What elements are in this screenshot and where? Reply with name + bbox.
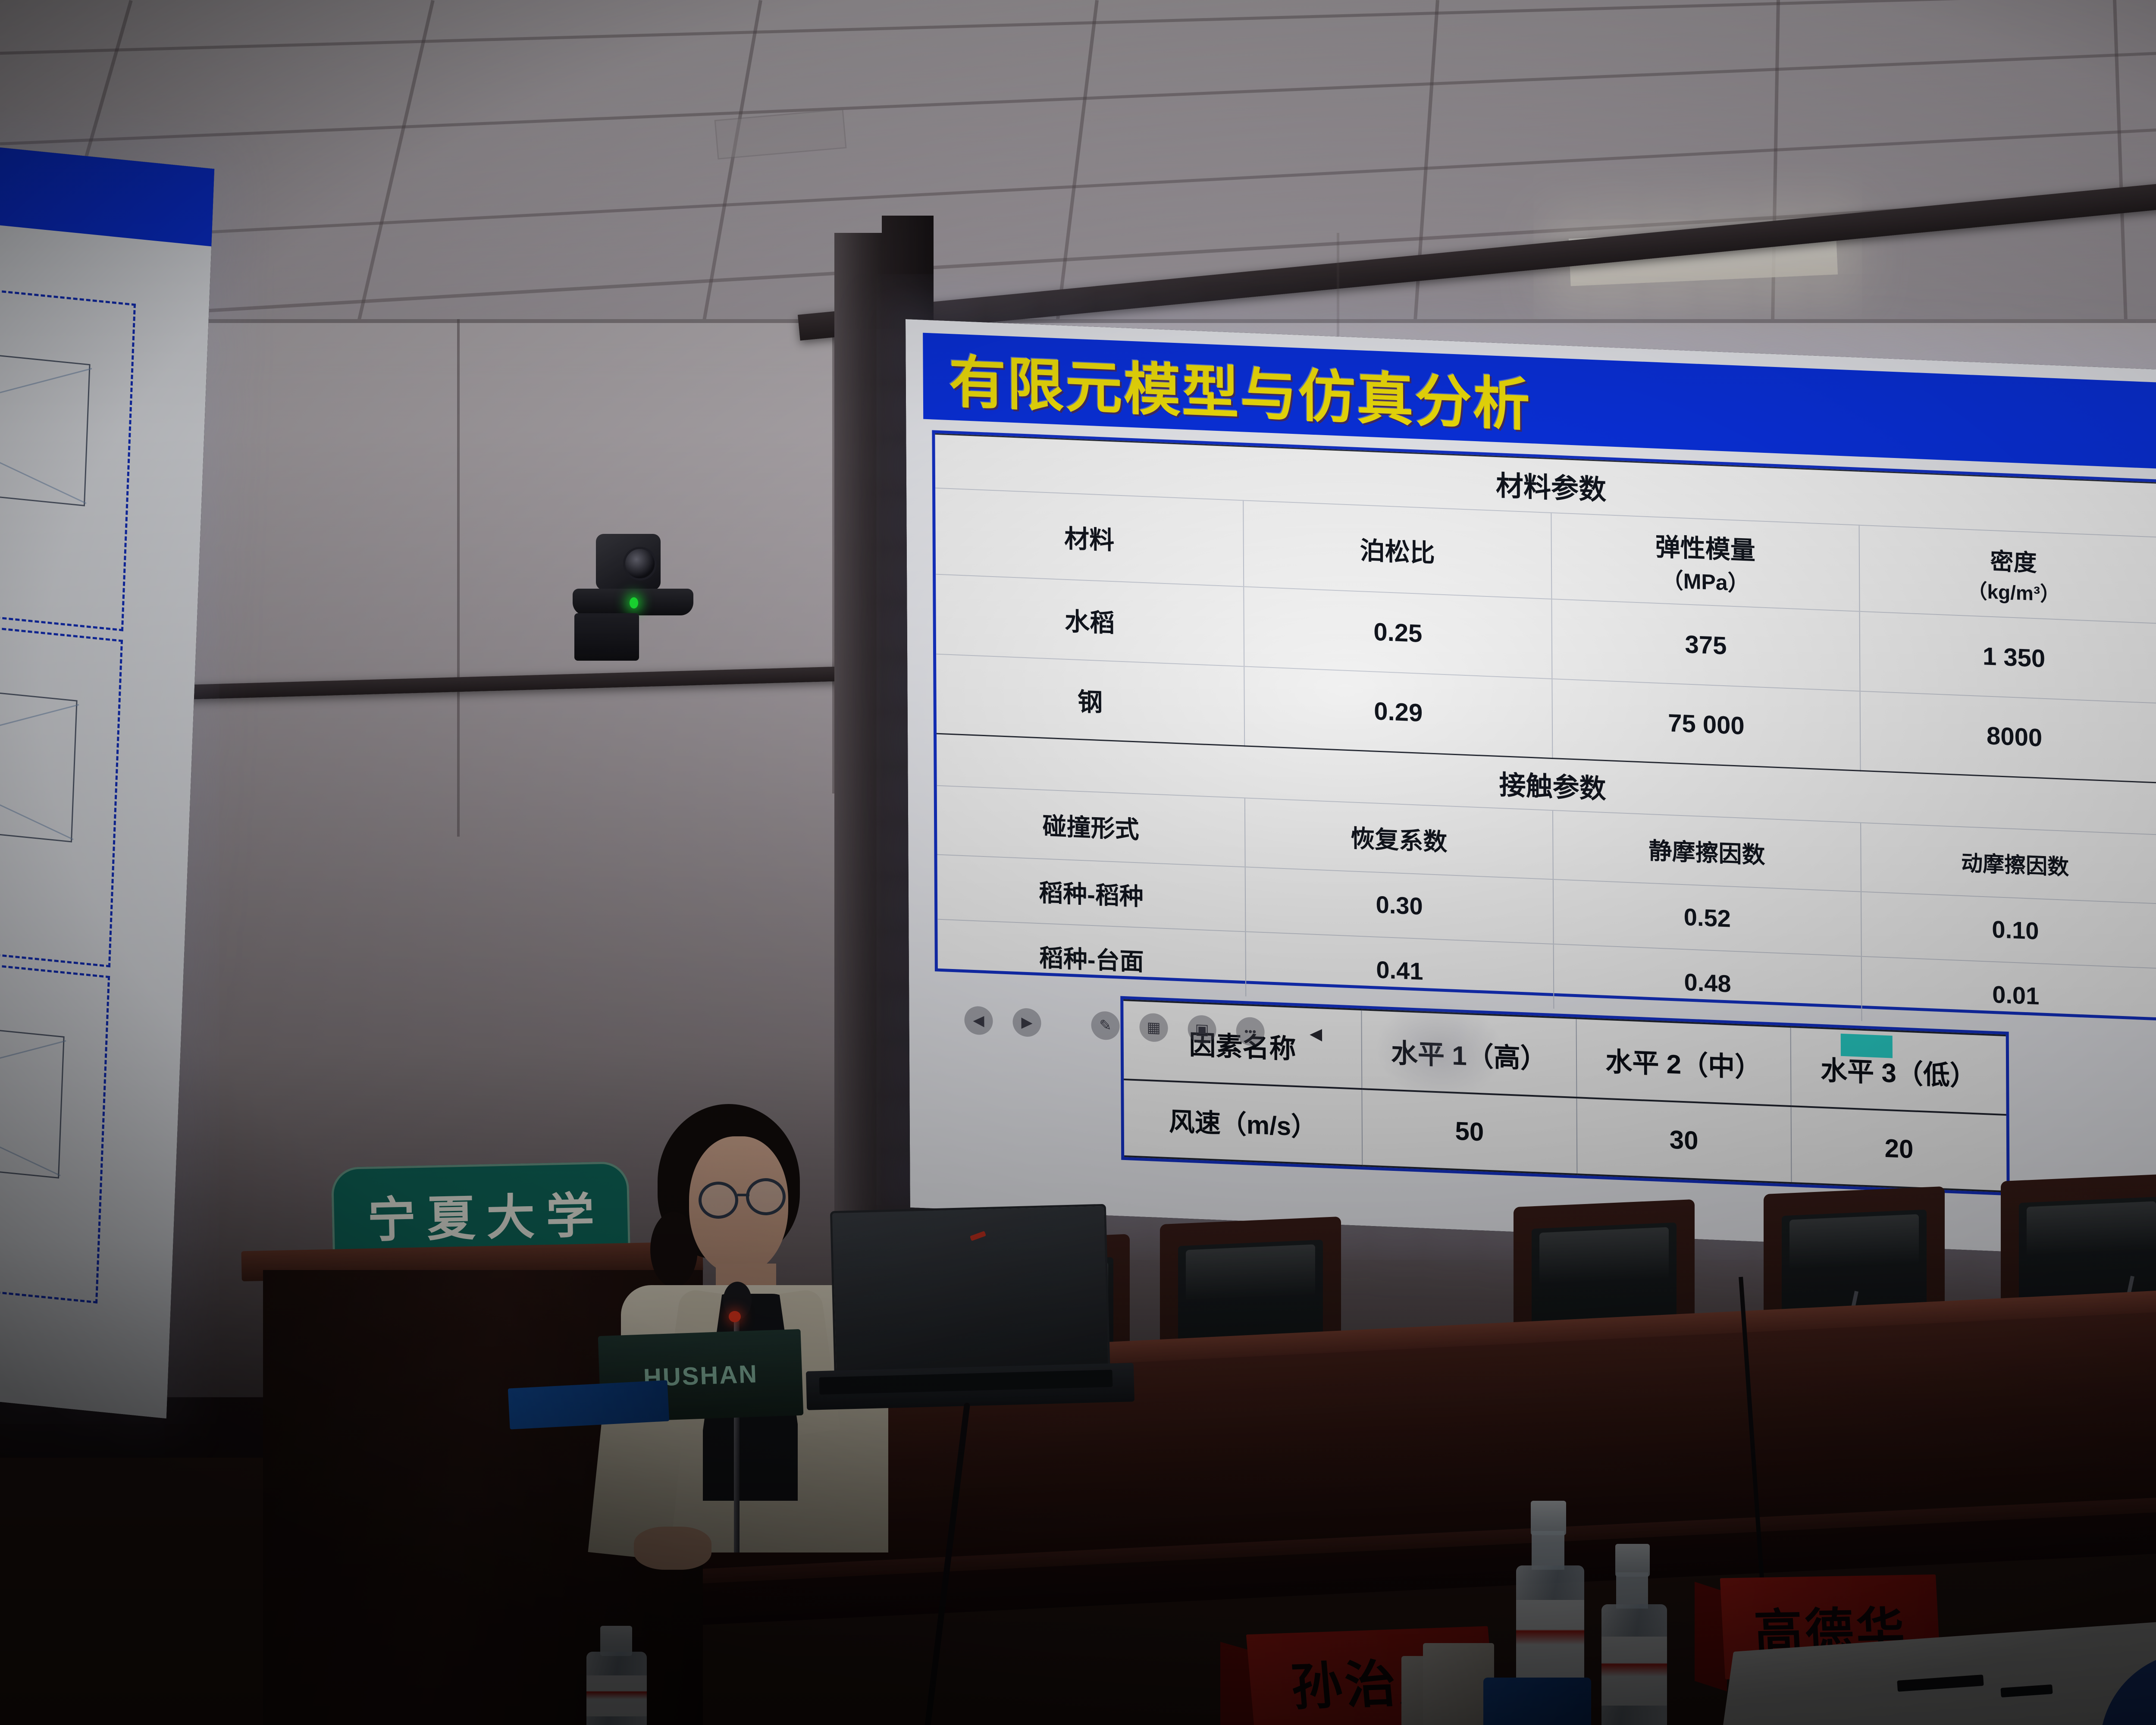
cell-modulus: 75 000 [1552, 679, 1860, 771]
col-head-restitution: 恢复系数 [1245, 798, 1553, 879]
ptz-camera [565, 513, 746, 673]
zoom-tool-button[interactable]: ▣ [1188, 1015, 1216, 1044]
bottle-cap [1531, 1501, 1566, 1535]
cell-static-friction: 0.48 [1554, 944, 1862, 1021]
cell-material: 钢 [936, 654, 1244, 746]
podium-sign-text: 宁夏大学 [355, 1176, 606, 1251]
bottle-label [1601, 1637, 1667, 1706]
conference-room-photo: 耦合仿真分析 有限元模型与仿真分析 [0, 0, 2156, 1725]
bottle-label [586, 1675, 647, 1716]
cell-poisson: 0.25 [1244, 586, 1552, 679]
cell-level-2: 30 [1576, 1098, 1791, 1183]
col-head-dynamic-friction: 动摩擦因数 [1861, 822, 2156, 904]
cell-collision-type: 稻种-台面 [937, 919, 1246, 996]
ceiling [0, 0, 2156, 336]
eyeglasses-bridge [737, 1194, 749, 1196]
camera-status-led [630, 597, 638, 608]
cell-factor-name: 风速（m/s） [1124, 1079, 1362, 1166]
blue-notebook [508, 1380, 669, 1429]
cursor-icon: ◄ [1306, 1022, 1326, 1046]
col-head-modulus: 弹性模量 （MPa） [1551, 513, 1859, 612]
cell-restitution: 0.41 [1245, 931, 1554, 1009]
main-display-screen: 有限元模型与仿真分析 材料参数 材料 泊松比 弹性模量 （MPa） [906, 319, 2156, 1275]
cell-material: 水稻 [936, 574, 1244, 666]
cell-density: 8000 [1860, 691, 2156, 783]
ceiling-tile-grid [0, 0, 2156, 336]
col-head-level-2: 水平 2（中） [1576, 1018, 1791, 1106]
microphone-indicator-led [729, 1311, 741, 1322]
camera-lens-icon [623, 547, 657, 580]
eyeglasses-right-lens [746, 1178, 786, 1215]
pen-tool-button[interactable]: ✎ [1091, 1011, 1119, 1041]
magnify-icon: ▣ [1195, 1021, 1209, 1038]
water-bottle [578, 1626, 655, 1725]
laptop-screen [830, 1204, 1110, 1384]
cell-poisson: 0.29 [1244, 666, 1552, 759]
bottle-label [1516, 1600, 1584, 1678]
camera-wall-arm [574, 613, 639, 661]
cell-static-friction: 0.52 [1553, 879, 1861, 957]
cell-level-3: 20 [1791, 1106, 2006, 1192]
previous-slide-button[interactable]: ◀ [964, 1006, 993, 1035]
blue-object [1483, 1678, 1591, 1725]
cell-collision-type: 稻种-稻种 [937, 854, 1245, 931]
water-bottle [1591, 1544, 1677, 1725]
prev-arrow-icon: ◀ [973, 1012, 984, 1029]
next-arrow-icon: ▶ [1021, 1013, 1032, 1031]
wall-column [834, 233, 882, 1268]
presentation-slide: 有限元模型与仿真分析 材料参数 材料 泊松比 弹性模量 （MPa） [906, 319, 2156, 1275]
all-slides-button[interactable]: ▦ [1139, 1013, 1168, 1042]
col-head-level-3: 水平 3（低） [1790, 1027, 2006, 1115]
cell-level-1: 50 [1362, 1089, 1577, 1174]
parameter-table-frame: 材料参数 材料 泊松比 弹性模量 （MPa） 密度 （kg/m³） [932, 430, 2156, 1021]
bottle-neck [1532, 1531, 1564, 1570]
col-head-poisson: 泊松比 [1243, 500, 1551, 599]
grid-icon: ▦ [1147, 1019, 1160, 1036]
presenter-hand [634, 1527, 711, 1570]
cell-dynamic-friction: 0.01 [1861, 956, 2156, 1033]
next-slide-button[interactable]: ▶ [1012, 1008, 1041, 1038]
ellipsis-icon: ••• [1244, 1025, 1256, 1038]
slide-title-text: 有限元模型与仿真分析 [949, 336, 1531, 442]
col-head-material: 材料 [935, 488, 1244, 586]
col-head-density: 密度 （kg/m³） [1859, 525, 2156, 624]
parameter-table: 材料参数 材料 泊松比 弹性模量 （MPa） 密度 （kg/m³） [935, 433, 2156, 1033]
mouse-pointer[interactable]: ◄ [1302, 1019, 1330, 1049]
cell-dynamic-friction: 0.10 [1861, 891, 2156, 969]
col-head-collision-type: 碰撞形式 [937, 785, 1245, 867]
pen-icon: ✎ [1099, 1017, 1112, 1035]
cell-modulus: 375 [1551, 599, 1860, 691]
more-options-button[interactable]: ••• [1236, 1016, 1264, 1046]
col-head-static-friction: 静摩擦因数 [1553, 810, 1861, 892]
cell-density: 1 350 [1860, 611, 2156, 703]
highlight-chip [1841, 1034, 1893, 1058]
cell-restitution: 0.30 [1245, 867, 1554, 944]
bottle-neck [1616, 1572, 1648, 1609]
eyeglasses-left-lens [699, 1182, 738, 1219]
bottle-cap [1615, 1544, 1650, 1577]
